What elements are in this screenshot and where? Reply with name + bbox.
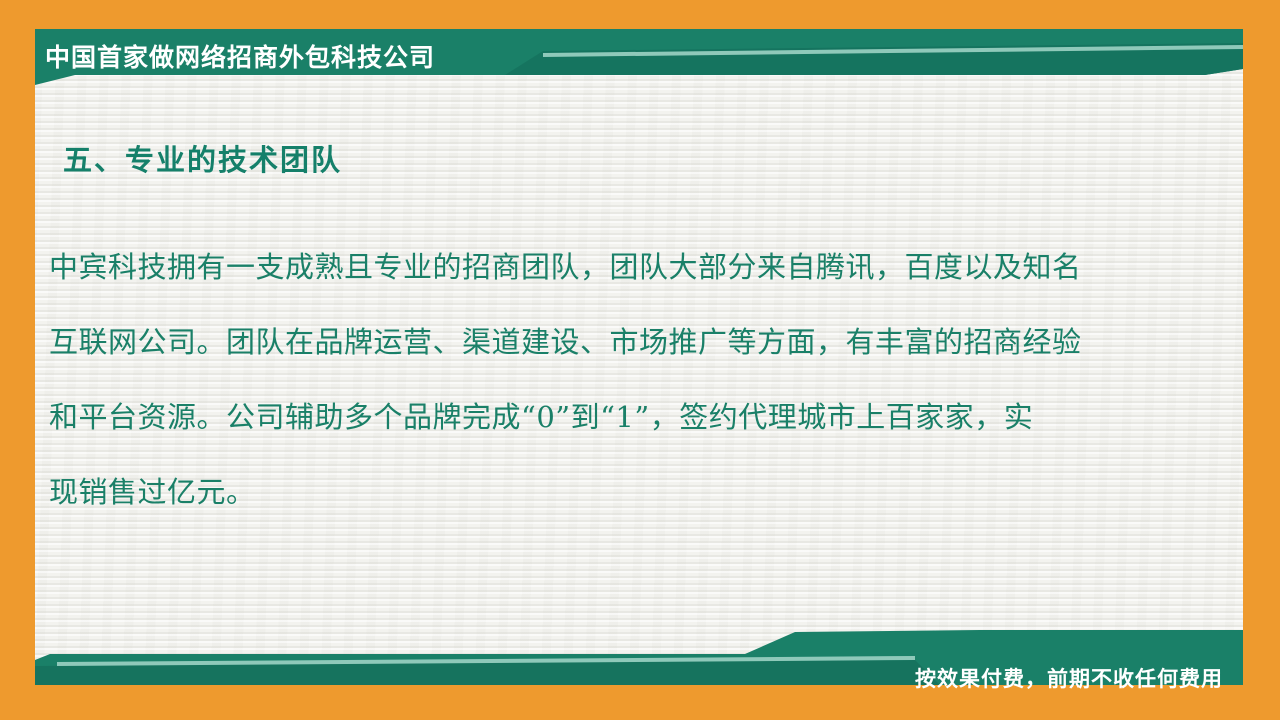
paragraph-line: 和平台资源。公司辅助多个品牌完成“0”到“1”，签约代理城市上百家家，实 [49, 380, 1189, 455]
paragraph-line: 现销售过亿元。 [49, 455, 1189, 530]
slide-content: 五、专业的技术团队 中宾科技拥有一支成熟且专业的招商团队，团队大部分来自腾讯，百… [35, 95, 1243, 625]
slide-footer: 按效果付费，前期不收任何费用 [35, 630, 1243, 685]
body-paragraph: 中宾科技拥有一支成熟且专业的招商团队，团队大部分来自腾讯，百度以及知名 互联网公… [49, 230, 1189, 530]
presentation-slide: 中国首家做网络招商外包科技公司 五、专业的技术团队 中宾科技拥有一支成熟且专业的… [0, 0, 1280, 720]
page-title: 五、专业的技术团队 [63, 137, 342, 179]
header-title: 中国首家做网络招商外包科技公司 [45, 31, 435, 81]
slide-header: 中国首家做网络招商外包科技公司 [35, 29, 1243, 85]
paragraph-line: 中宾科技拥有一支成熟且专业的招商团队，团队大部分来自腾讯，百度以及知名 [49, 230, 1189, 305]
paragraph-line: 互联网公司。团队在品牌运营、渠道建设、市场推广等方面，有丰富的招商经验 [49, 305, 1189, 380]
footer-tagline: 按效果付费，前期不收任何费用 [915, 658, 1223, 698]
